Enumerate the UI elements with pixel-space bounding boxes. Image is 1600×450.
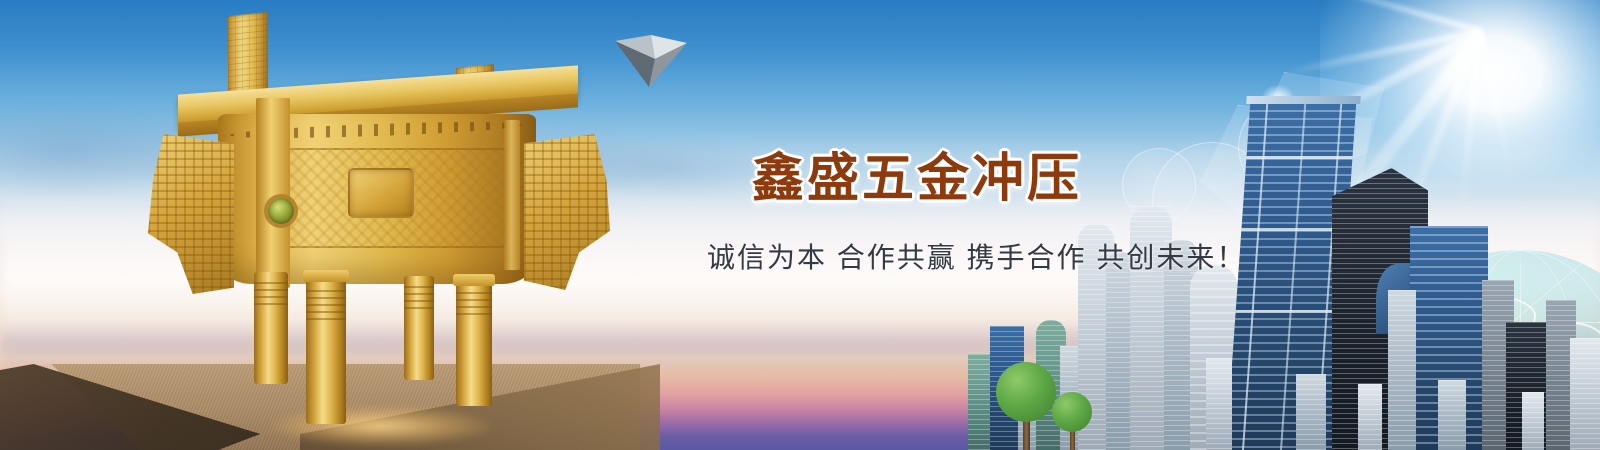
ding-flange-pattern <box>524 134 610 290</box>
building <box>1388 290 1416 450</box>
building <box>1296 374 1326 450</box>
tower-crown <box>1246 96 1361 104</box>
tree-large <box>996 362 1056 450</box>
ding-leg-rings <box>306 290 346 320</box>
building <box>1206 358 1232 450</box>
inverted-pyramid <box>615 35 687 87</box>
hero-banner: 鑫盛五金冲压 诚信为本 合作共赢 携手合作 共创未来！ <box>0 0 1600 450</box>
building <box>1522 392 1544 450</box>
ding-leg-front-right <box>456 280 492 406</box>
ding-corner-rib <box>504 120 520 270</box>
ding-jade-boss <box>268 198 294 224</box>
ding-leg-rings <box>254 282 288 308</box>
tower-belt <box>1241 228 1347 231</box>
tower-belt <box>1236 310 1342 313</box>
ding-flange-pattern <box>148 134 234 294</box>
pyramid-svg <box>615 35 687 87</box>
page-title: 鑫盛五金冲压 <box>752 136 1082 211</box>
tree-small <box>1052 392 1092 450</box>
tower-belt <box>1246 156 1352 159</box>
ding-leg-front-left <box>306 276 346 424</box>
building <box>1358 384 1382 450</box>
ding-leg-rings <box>456 292 492 320</box>
ding-cartouche <box>348 168 414 218</box>
tree-crown <box>996 362 1056 422</box>
ding-leg-rings <box>404 286 434 310</box>
ding-leg-cap <box>303 270 349 282</box>
ding-flange-left <box>148 134 234 294</box>
ding-leg-cap <box>453 274 495 286</box>
ding-leg-back-left <box>254 272 288 384</box>
page-subtitle: 诚信为本 合作共赢 携手合作 共创未来！ <box>707 236 1246 276</box>
ding-flange-right <box>524 134 610 290</box>
bronze-ding-vessel <box>160 8 600 428</box>
building <box>1438 380 1466 450</box>
building <box>1570 338 1600 450</box>
tree-crown <box>1052 392 1092 432</box>
ding-corner-rib <box>256 98 290 288</box>
ding-leg-back-right <box>404 276 434 380</box>
